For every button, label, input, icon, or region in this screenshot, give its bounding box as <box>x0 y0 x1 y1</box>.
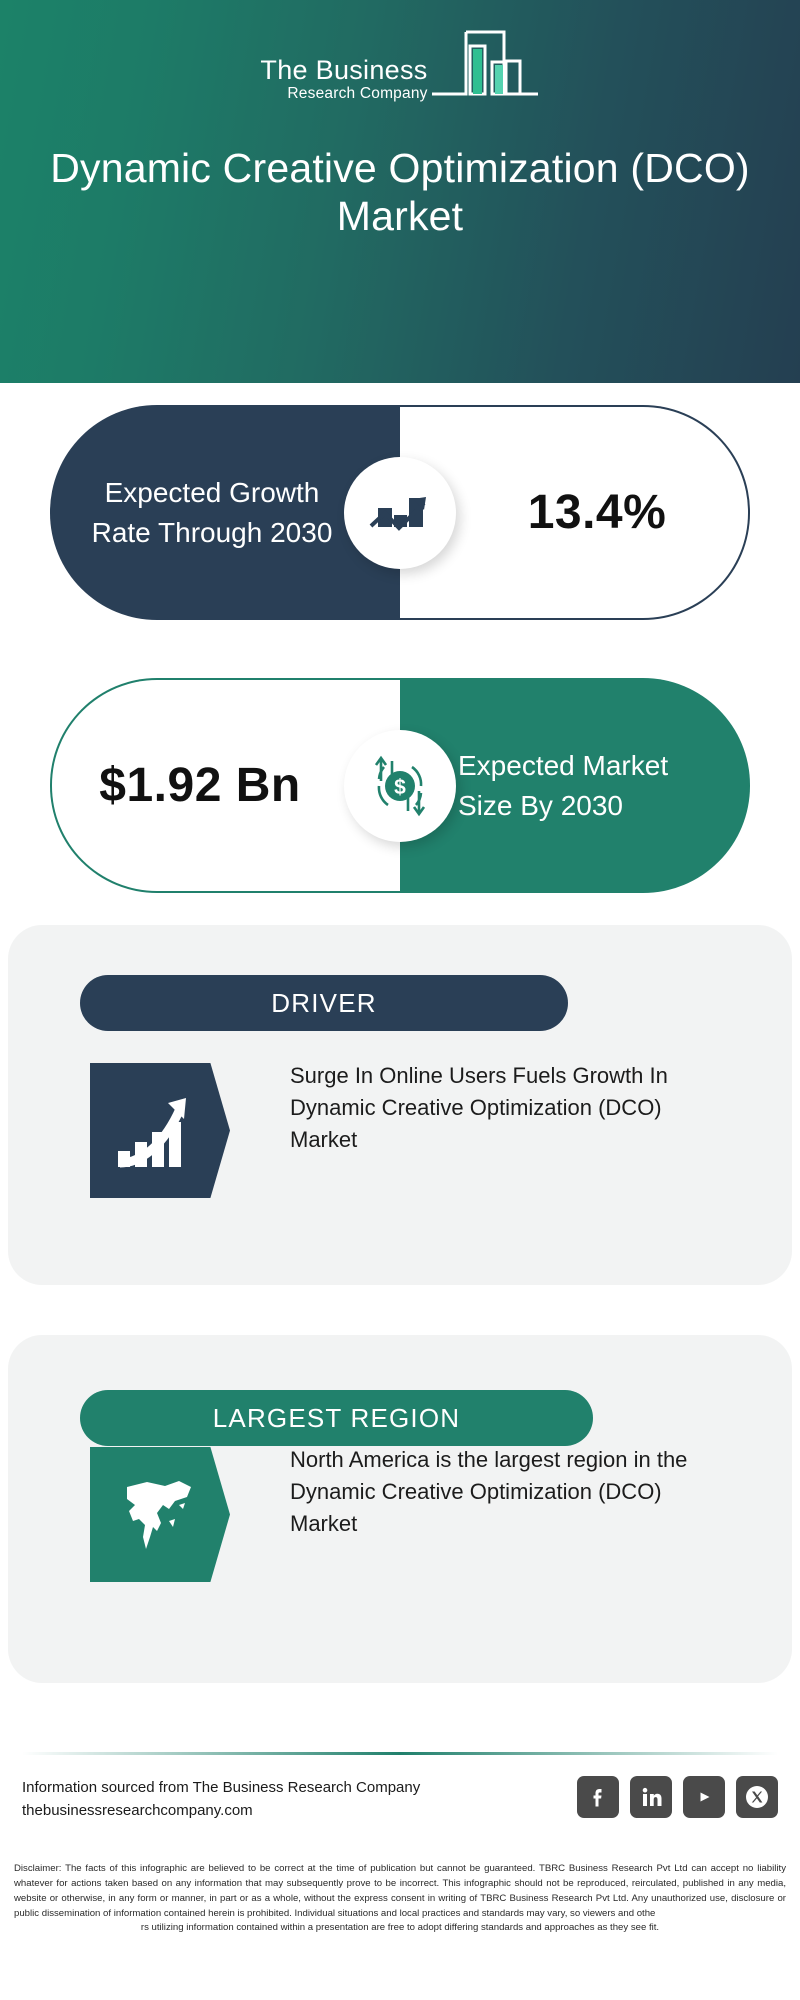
largest-region-body-text: North America is the largest region in t… <box>290 1444 710 1540</box>
source-website-link[interactable]: thebusinessresearchcompany.com <box>22 1799 482 1822</box>
growth-bar-chart-arrow-icon <box>344 457 456 569</box>
source-line-1: Information sourced from The Business Re… <box>22 1776 482 1799</box>
bar-chart-logo-mark-icon <box>430 28 540 105</box>
stat-card-market-size: $1.92 Bn Expected Market Size By 2030 $ <box>50 678 750 893</box>
footer-divider <box>22 1752 778 1755</box>
logo-line-1: The Business <box>260 57 427 84</box>
logo-line-2: Research Company <box>260 86 427 102</box>
page-title: Dynamic Creative Optimization (DCO) Mark… <box>50 145 750 241</box>
social-links <box>577 1776 778 1818</box>
driver-pill: DRIVER <box>80 975 568 1031</box>
header-banner: The Business Research Company Dyna <box>0 0 800 383</box>
largest-region-pill-label: LARGEST REGION <box>213 1403 461 1434</box>
youtube-icon[interactable] <box>683 1776 725 1818</box>
linkedin-icon[interactable] <box>630 1776 672 1818</box>
driver-pill-label: DRIVER <box>271 988 376 1019</box>
svg-text:$: $ <box>394 776 406 799</box>
stat-card-growth-rate: Expected Growth Rate Through 2030 13.4% <box>50 405 750 620</box>
stat-value: 13.4% <box>482 485 667 540</box>
stat-value: $1.92 Bn <box>99 758 352 813</box>
largest-region-pill: LARGEST REGION <box>80 1390 593 1446</box>
infographic-page: The Business Research Company Dyna <box>0 0 800 2000</box>
disclaimer-last-line: rs utilizing information contained withi… <box>14 1921 786 1936</box>
dollar-circular-arrows-icon: $ <box>344 730 456 842</box>
company-logo: The Business Research Company <box>0 28 800 105</box>
disclaimer-main: Disclaimer: The facts of this infographi… <box>14 1863 786 1919</box>
disclaimer-text: Disclaimer: The facts of this infographi… <box>14 1862 786 1936</box>
north-america-map-icon <box>90 1447 230 1582</box>
source-attribution: Information sourced from The Business Re… <box>22 1776 482 1823</box>
driver-body-text: Surge In Online Users Fuels Growth In Dy… <box>290 1060 700 1156</box>
upward-trend-arrow-icon <box>90 1063 230 1198</box>
logo-text: The Business Research Company <box>260 57 427 106</box>
facebook-icon[interactable] <box>577 1776 619 1818</box>
x-twitter-icon[interactable] <box>736 1776 778 1818</box>
